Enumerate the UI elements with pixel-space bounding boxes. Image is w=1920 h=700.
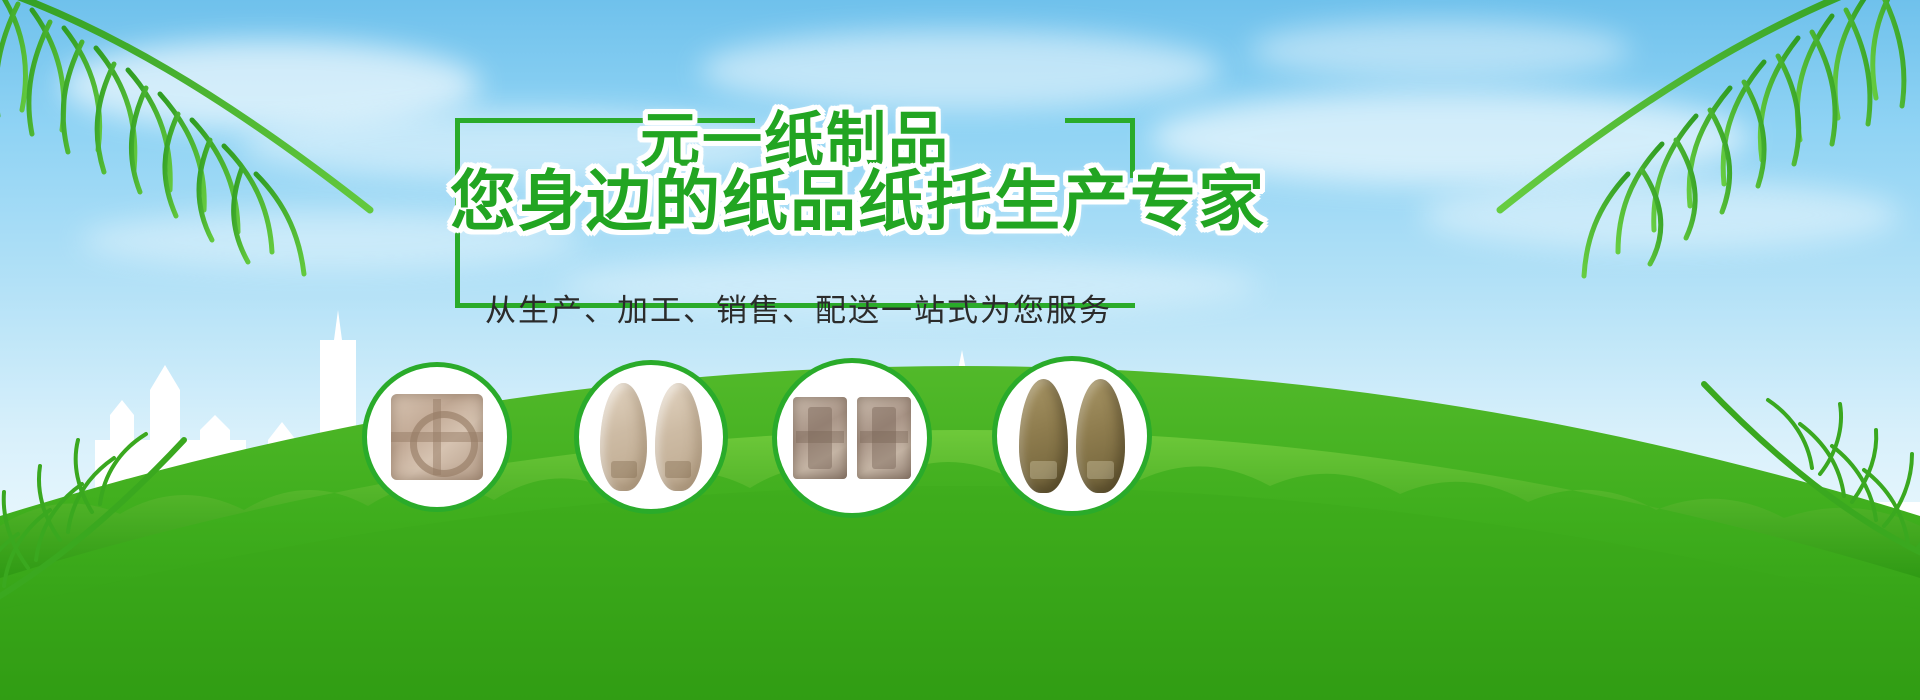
product-image-shoe-tree-pair (589, 375, 713, 499)
product-circle-4[interactable]: molded-pulp-shoe-tree-pair-dark (992, 356, 1152, 516)
product-circle-2[interactable]: molded-pulp-shoe-tree-pair (574, 360, 728, 514)
shoe-tree-dark-left (1019, 379, 1068, 493)
corner-protector-left (793, 397, 847, 480)
product-image-shoe-tree-pair-dark (1008, 372, 1137, 501)
shoe-tree-left (600, 383, 647, 492)
pulp-tray-bar (391, 432, 482, 442)
shoe-tree-dark-right (1076, 379, 1125, 493)
product-image-molded-pulp-square-tray (377, 377, 497, 497)
corner-protector-right (857, 397, 911, 480)
shoe-tree-notch (611, 461, 637, 478)
shoe-tree-notch (1030, 461, 1057, 479)
shoe-tree-notch (1087, 461, 1114, 479)
product-circle-1[interactable]: molded-pulp-square-tray (362, 362, 512, 512)
product-image-corner-protectors (788, 374, 917, 503)
product-circle-3[interactable]: molded-pulp-corner-protector-pair (772, 358, 932, 518)
shoe-tree-right (655, 383, 702, 492)
product-circle-row: molded-pulp-square-tray molded-pulp-shoe… (0, 0, 1920, 700)
promo-banner: 元一纸制品 您身边的纸品纸托生产专家 从生产、加工、销售、配送一站式为您服务 m… (0, 0, 1920, 700)
shoe-tree-notch (665, 461, 691, 478)
